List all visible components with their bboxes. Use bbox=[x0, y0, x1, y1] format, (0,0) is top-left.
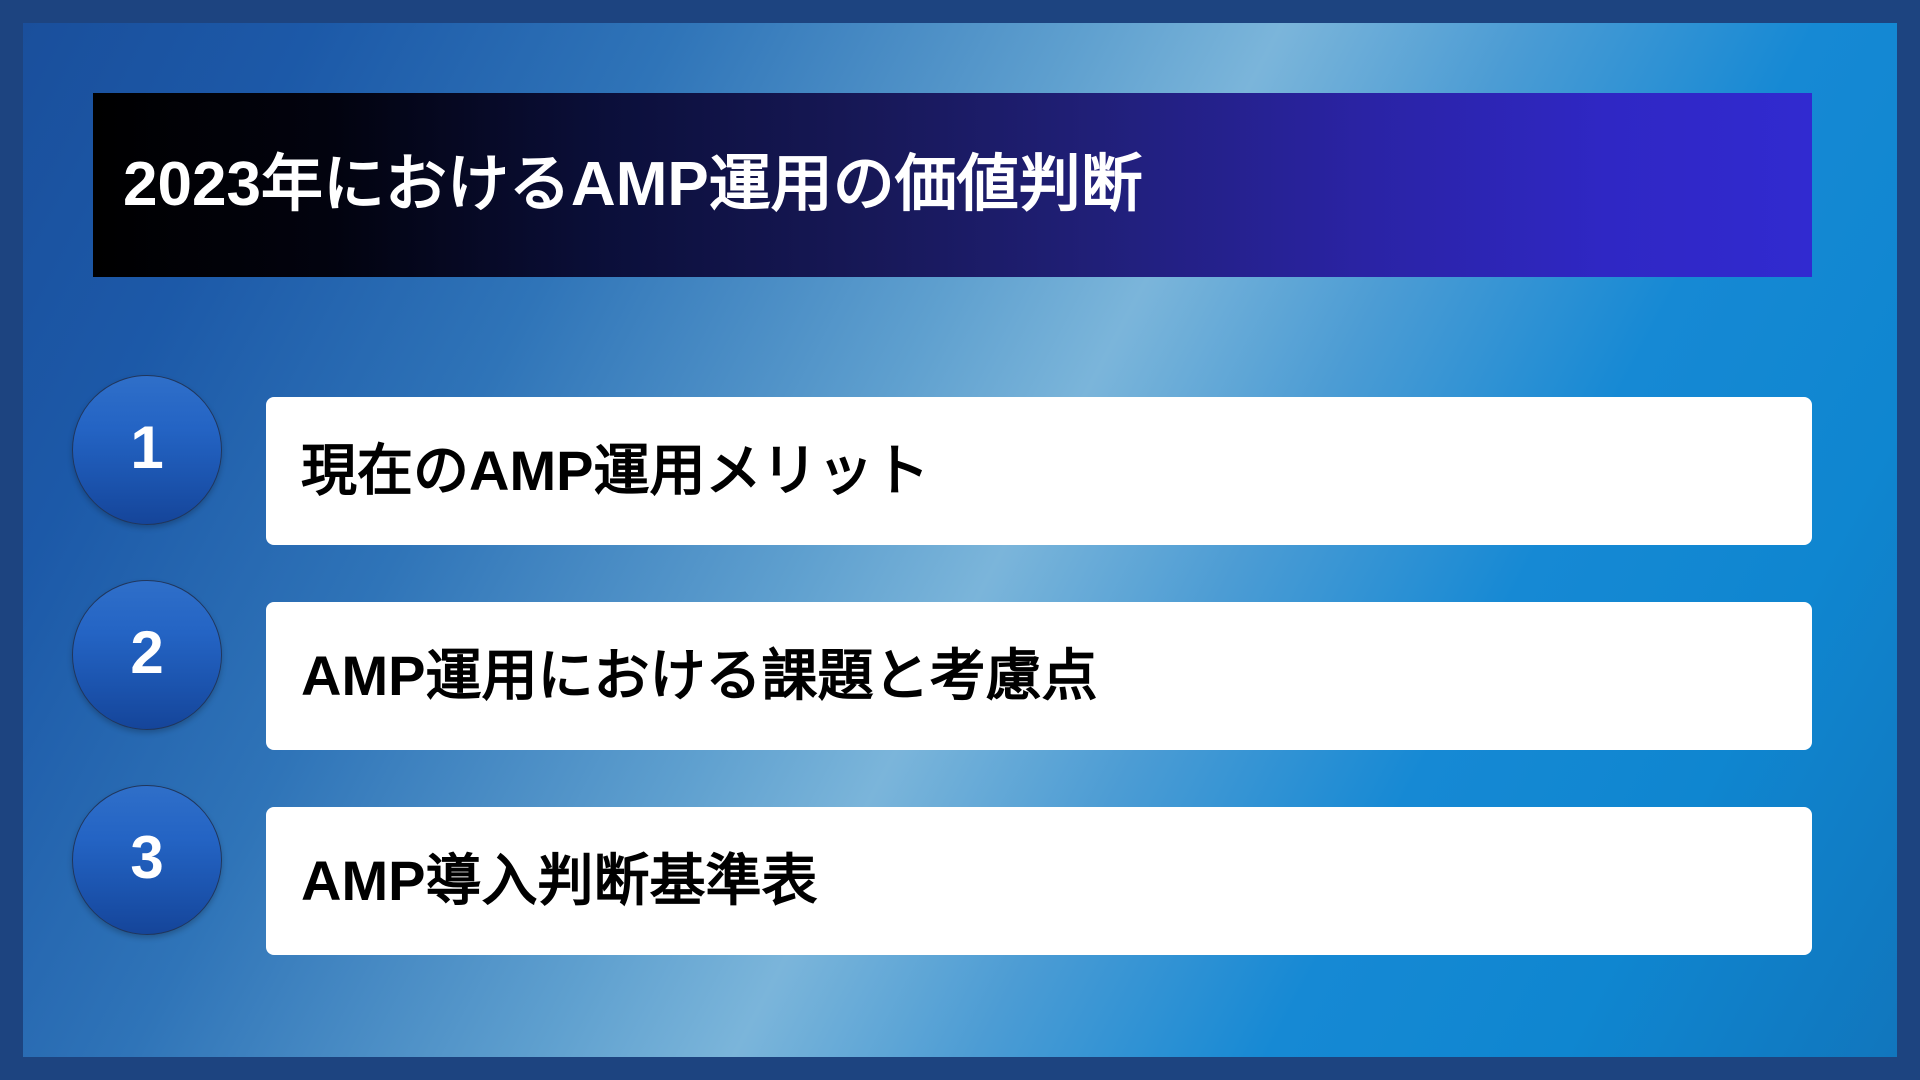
agenda-card-3[interactable]: AMP導入判断基準表 bbox=[266, 807, 1812, 955]
list-item[interactable]: 1 現在のAMP運用メリット bbox=[23, 375, 1897, 525]
agenda-label-2: AMP運用における課題と考慮点 bbox=[301, 645, 1097, 707]
list-item[interactable]: 2 AMP運用における課題と考慮点 bbox=[23, 580, 1897, 730]
slide-title-bar: 2023年におけるAMP運用の価値判断 bbox=[93, 93, 1812, 277]
agenda-card-1[interactable]: 現在のAMP運用メリット bbox=[266, 397, 1812, 545]
list-item[interactable]: 3 AMP導入判断基準表 bbox=[23, 785, 1897, 935]
agenda-number-badge-3: 3 bbox=[72, 785, 222, 935]
agenda-label-1: 現在のAMP運用メリット bbox=[301, 440, 929, 502]
page-title: 2023年におけるAMP運用の価値判断 bbox=[123, 151, 1143, 219]
agenda-number-badge-1: 1 bbox=[72, 375, 222, 525]
slide-canvas: 2023年におけるAMP運用の価値判断 1 現在のAMP運用メリット 2 AMP… bbox=[23, 23, 1897, 1057]
slide-frame: 2023年におけるAMP運用の価値判断 1 現在のAMP運用メリット 2 AMP… bbox=[0, 0, 1920, 1080]
agenda-list: 1 現在のAMP運用メリット 2 AMP運用における課題と考慮点 3 bbox=[23, 375, 1897, 935]
agenda-number-3: 3 bbox=[130, 828, 163, 888]
agenda-label-3: AMP導入判断基準表 bbox=[301, 850, 817, 912]
agenda-card-2[interactable]: AMP運用における課題と考慮点 bbox=[266, 602, 1812, 750]
agenda-number-1: 1 bbox=[130, 418, 163, 478]
agenda-number-badge-2: 2 bbox=[72, 580, 222, 730]
agenda-number-2: 2 bbox=[130, 623, 163, 683]
